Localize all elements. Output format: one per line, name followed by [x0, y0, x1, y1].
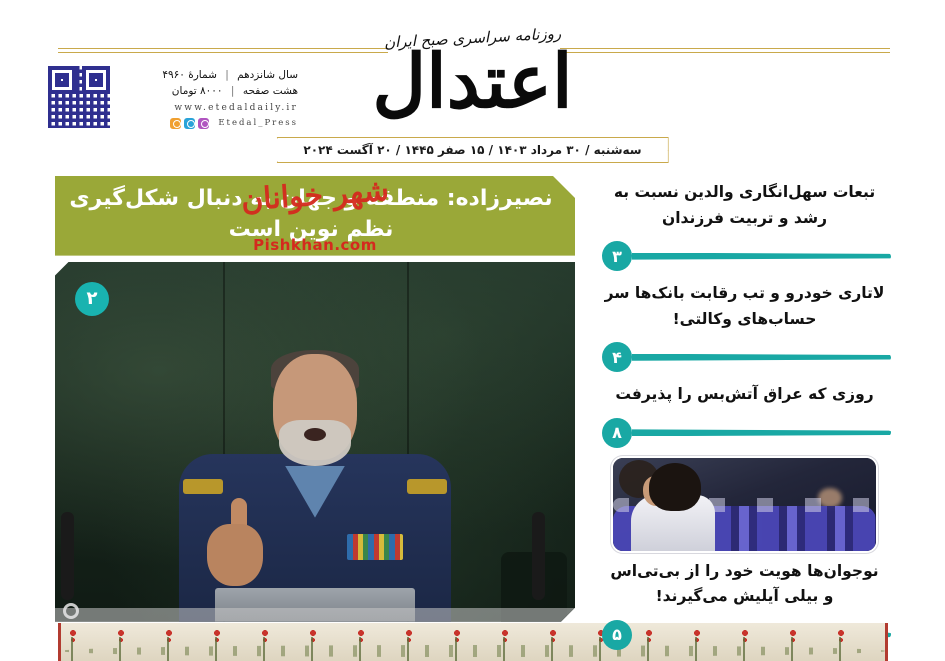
photo-bottom-strip — [55, 608, 575, 622]
teaser-title: تبعات سهل‌انگاری والدین نسبت به رشد و تر… — [602, 176, 887, 233]
photo-person-head — [649, 463, 701, 511]
teaser-title: روزی که عراق آتش‌بس را پذیرفت — [602, 378, 887, 410]
teaser-rule: ۸ — [602, 416, 887, 450]
price-label: ۸۰۰۰ تومان — [172, 85, 223, 97]
meta-row-price: هشت صفحه | ۸۰۰۰ تومان — [120, 83, 298, 99]
photo-officer-mouth — [304, 428, 326, 441]
meta-separator-2: | — [226, 85, 240, 97]
instagram-icon[interactable] — [170, 118, 181, 129]
qr-code-icon[interactable] — [48, 66, 110, 128]
year-label: سال شانزدهم — [237, 69, 298, 81]
teaser-item-1[interactable]: تبعات سهل‌انگاری والدین نسبت به رشد و تر… — [602, 176, 887, 273]
watermark-url-text: Pishkhan.com — [253, 236, 377, 254]
meta-row-issue: سال شانزدهم | شمارهٔ ۴۹۶۰ — [120, 67, 298, 83]
main-story: نصیرزاده: منطقه و جهان به دنبال شکل‌گیری… — [55, 176, 575, 622]
page-badge[interactable]: ۴ — [602, 342, 632, 372]
ornament-leaves — [61, 645, 885, 657]
social-row: Etedal_Press — [120, 118, 298, 129]
photo-medal-ribbons — [347, 534, 403, 560]
meta-separator: | — [220, 69, 234, 81]
teaser-bar — [632, 354, 891, 361]
main-photo-officer[interactable]: ۲ — [55, 262, 575, 622]
photo-officer-hand — [207, 524, 263, 586]
pages-label: هشت صفحه — [243, 85, 298, 97]
photo-epaulette-right — [407, 479, 447, 494]
teaser-title: نوجوان‌ها هویت خود را از بی‌تی‌اس و بیلی… — [602, 555, 887, 612]
page-badge[interactable]: ۵ — [602, 620, 632, 650]
photo-officer-beard — [279, 420, 351, 466]
telegram-icon[interactable] — [184, 118, 195, 129]
main-page-badge[interactable]: ۲ — [75, 282, 109, 316]
teaser-bar — [632, 253, 891, 260]
whatsapp-icon[interactable] — [198, 118, 209, 129]
teaser-photo-students[interactable] — [611, 456, 878, 553]
teaser-item-3[interactable]: روزی که عراق آتش‌بس را پذیرفت ۸ — [602, 378, 887, 450]
photo-microphone-right — [532, 512, 545, 600]
page-badge[interactable]: ۸ — [602, 418, 632, 448]
decorative-border-strip — [58, 623, 888, 661]
date-ribbon: سه‌شنبه / ۳۰ مرداد ۱۴۰۳ / ۱۵ صفر ۱۴۴۵ / … — [276, 137, 668, 163]
teaser-rule: ۴ — [602, 340, 887, 374]
newspaper-front-page: روزنامه سراسری صبح ایران اعتدال سال شانز… — [0, 0, 945, 661]
masthead: روزنامه سراسری صبح ایران اعتدال سال شانز… — [0, 0, 945, 170]
masthead-info-block: سال شانزدهم | شمارهٔ ۴۹۶۰ هشت صفحه | ۸۰۰… — [48, 66, 298, 138]
date-line: سه‌شنبه / ۳۰ مرداد ۱۴۰۳ / ۱۵ صفر ۱۴۴۵ / … — [303, 143, 641, 157]
sidebar-teasers: تبعات سهل‌انگاری والدین نسبت به رشد و تر… — [602, 176, 887, 656]
issue-label: شمارهٔ ۴۹۶۰ — [162, 69, 217, 81]
teaser-item-2[interactable]: لاتاری خودرو و تب رقابت بانک‌ها سر حساب‌… — [602, 277, 887, 374]
photo-corner-circle — [63, 603, 79, 619]
teaser-bar — [632, 429, 891, 436]
photo-microphone-left — [61, 512, 74, 600]
page-badge[interactable]: ۳ — [602, 241, 632, 271]
content-area: تبعات سهل‌انگاری والدین نسبت به رشد و تر… — [0, 176, 945, 621]
website-url[interactable]: www.etedaldaily.ir — [120, 100, 298, 117]
photo-epaulette-left — [183, 479, 223, 494]
social-handle[interactable]: Etedal_Press — [218, 118, 298, 128]
teaser-rule: ۳ — [602, 239, 887, 273]
teaser-title: لاتاری خودرو و تب رقابت بانک‌ها سر حساب‌… — [602, 277, 887, 334]
masthead-meta: سال شانزدهم | شمارهٔ ۴۹۶۰ هشت صفحه | ۸۰۰… — [120, 66, 298, 129]
